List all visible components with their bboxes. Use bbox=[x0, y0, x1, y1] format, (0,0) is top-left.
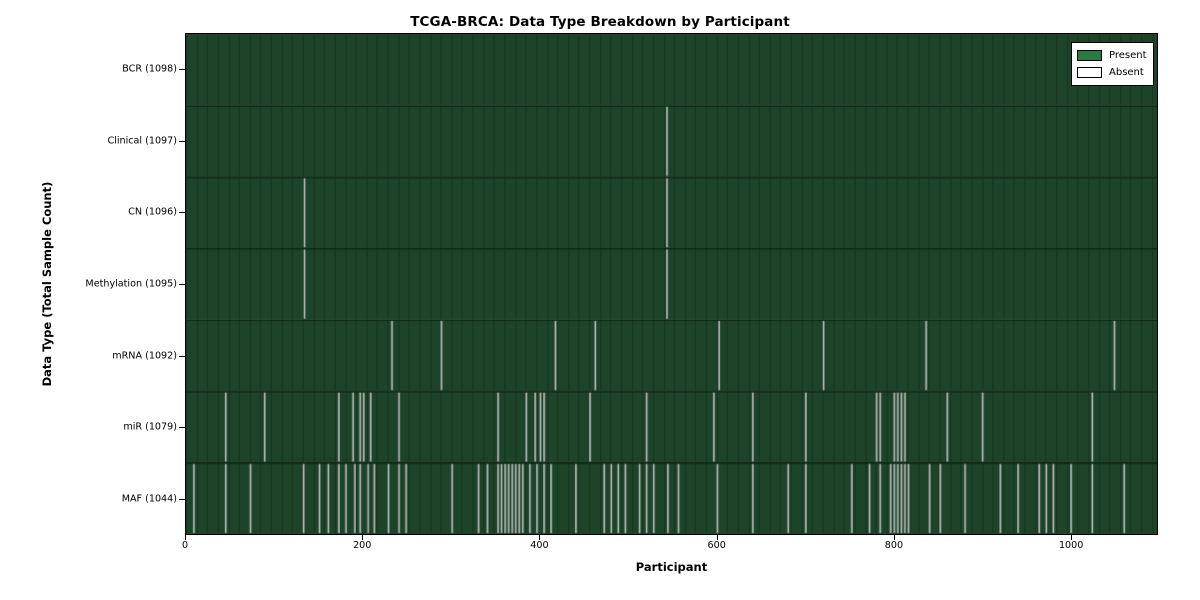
x-tick-label-400: 400 bbox=[530, 540, 548, 551]
x-axis-title: Participant bbox=[185, 560, 1158, 574]
legend-swatch-absent bbox=[1077, 67, 1102, 78]
x-tick-label-0: 0 bbox=[182, 540, 188, 551]
legend-item-present[interactable]: Present bbox=[1077, 47, 1147, 64]
x-tick-label-1000: 1000 bbox=[1059, 540, 1083, 551]
legend: PresentAbsent bbox=[1071, 42, 1154, 86]
x-tick-label-800: 800 bbox=[885, 540, 903, 551]
legend-label-absent: Absent bbox=[1109, 67, 1144, 78]
x-axis: 02004006008001000 bbox=[0, 0, 1200, 600]
legend-label-present: Present bbox=[1109, 50, 1147, 61]
x-tick-label-600: 600 bbox=[708, 540, 726, 551]
x-tick-label-200: 200 bbox=[353, 540, 371, 551]
legend-item-absent[interactable]: Absent bbox=[1077, 64, 1147, 81]
chart-figure: TCGA-BRCA: Data Type Breakdown by Partic… bbox=[0, 0, 1200, 600]
legend-swatch-present bbox=[1077, 50, 1102, 61]
